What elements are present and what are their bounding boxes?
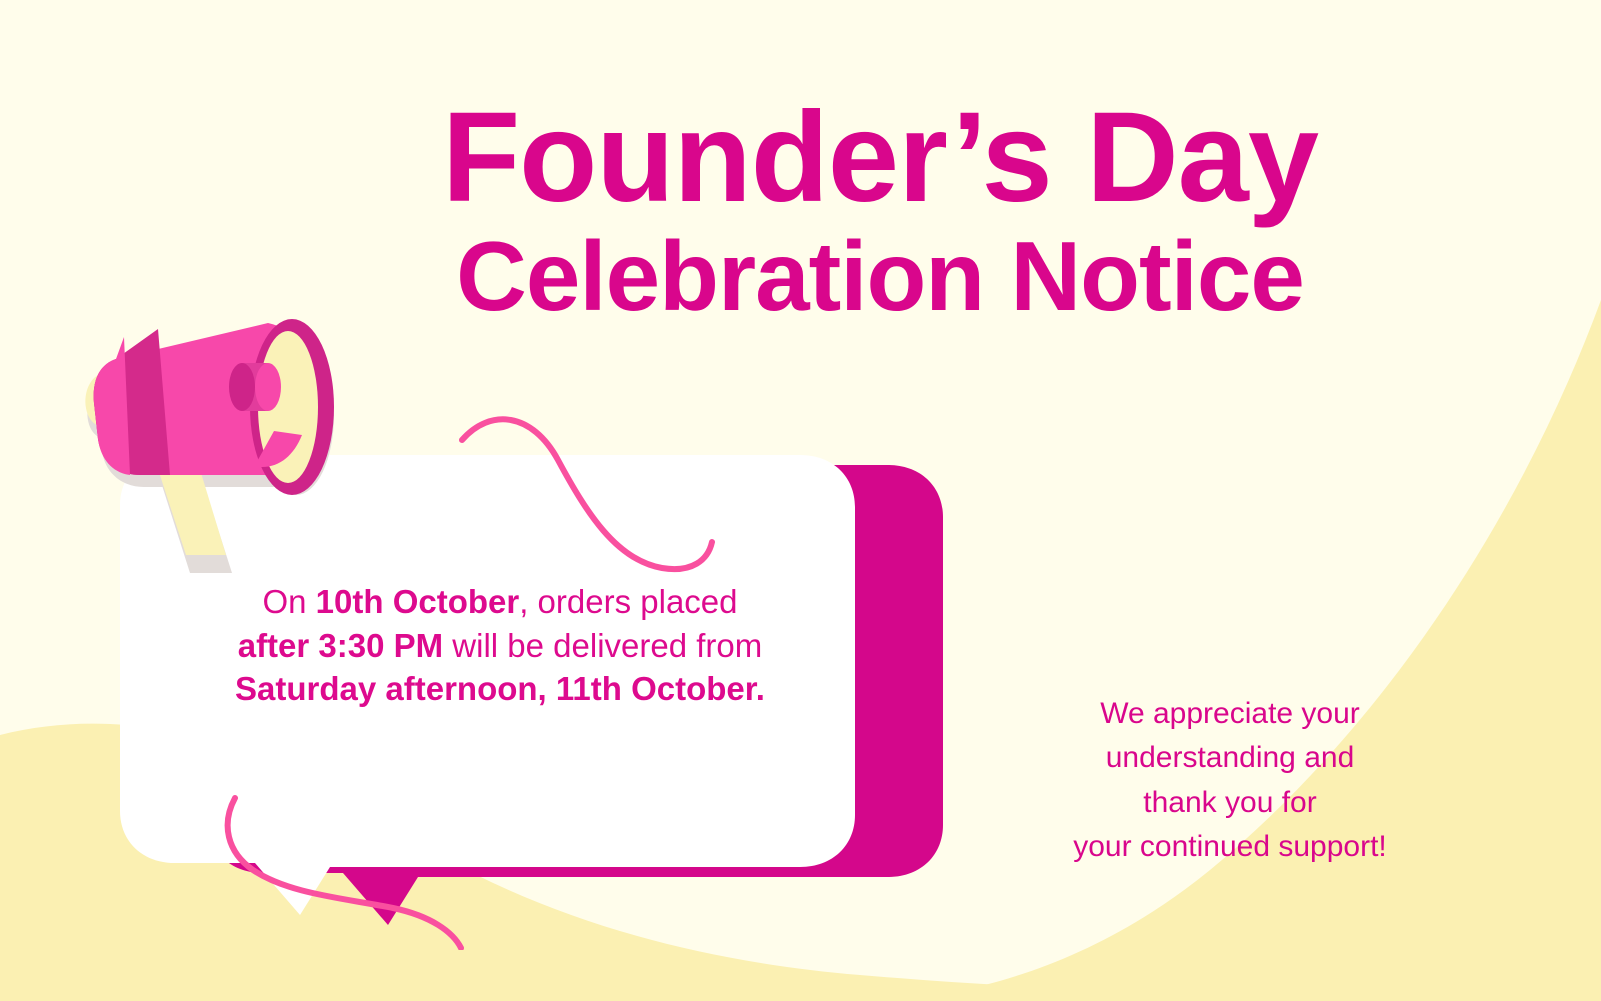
megaphone-knob [229, 363, 281, 411]
megaphone-icon [40, 255, 390, 585]
thanks-line-1: We appreciate your [1020, 692, 1440, 736]
thanks-line-4: your continued support! [1020, 825, 1440, 869]
thanks-line-2: understanding and [1020, 736, 1440, 780]
notice-text: On 10th October, orders placed after 3:3… [150, 580, 850, 711]
megaphone-body-left-light [94, 337, 130, 475]
megaphone-illustration [40, 255, 390, 585]
notice-banner: Founder’s Day Celebration Notice [0, 0, 1601, 1001]
notice-line-1: On 10th October, orders placed [150, 580, 850, 624]
notice-line-3: Saturday afternoon, 11th October. [150, 667, 850, 711]
thanks-line-3: thank you for [1020, 781, 1440, 825]
appreciation-text: We appreciate your understanding and tha… [1020, 692, 1440, 870]
notice-line-2: after 3:30 PM will be delivered from [150, 624, 850, 668]
